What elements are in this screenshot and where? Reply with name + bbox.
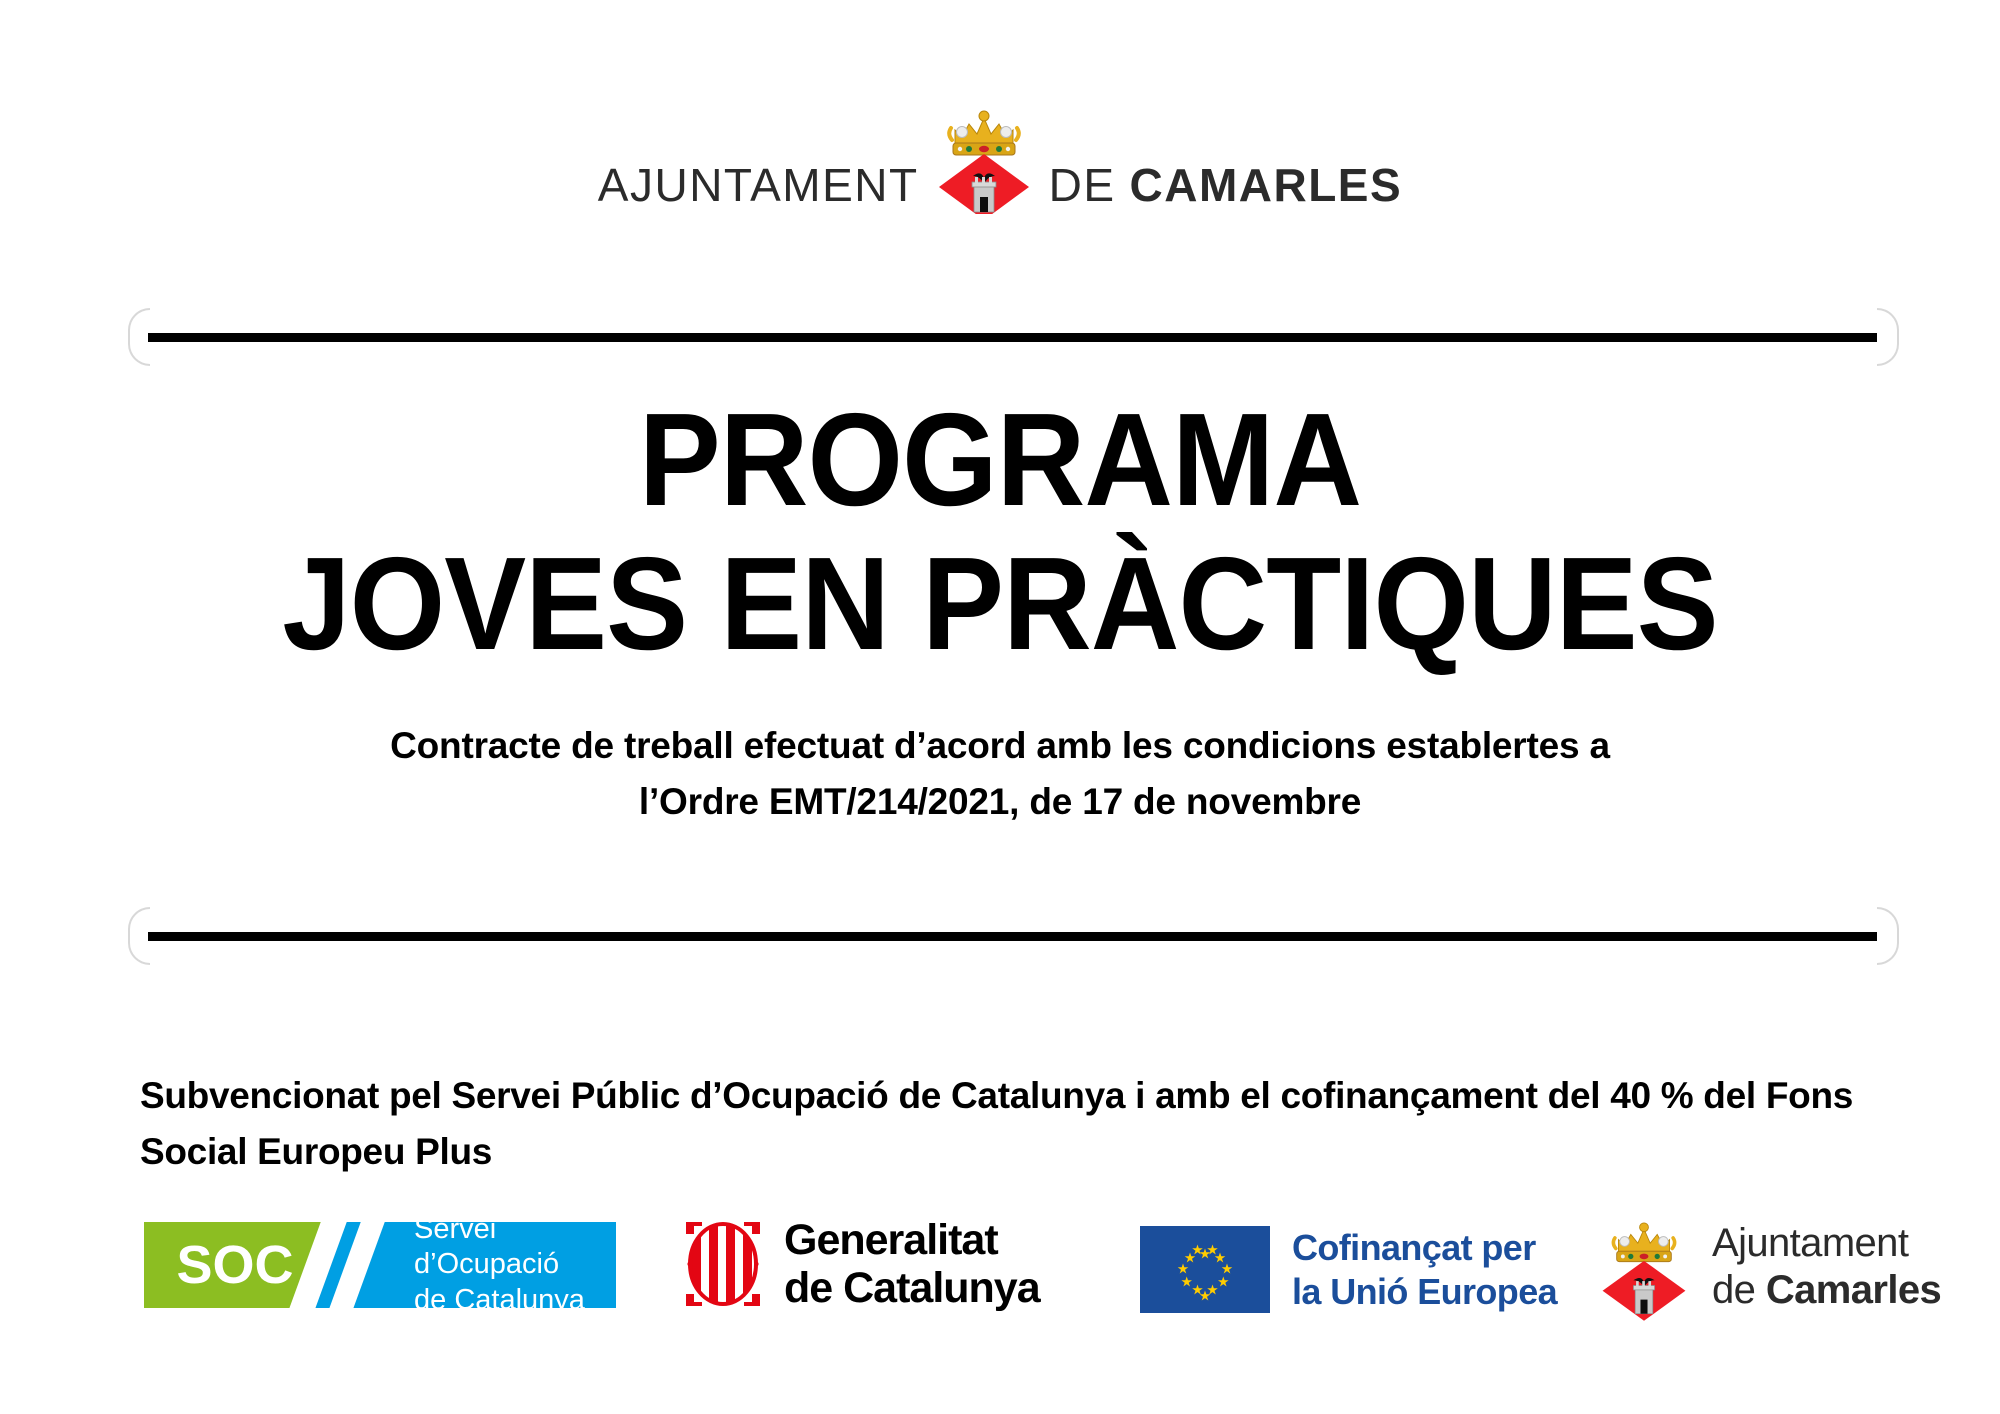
title-line-2: JOVES EN PRÀCTIQUES	[70, 534, 1930, 674]
senyera-emblem-icon	[680, 1216, 766, 1312]
rule-cap-bottom-left	[128, 907, 150, 965]
camarles-wordmark: Ajuntament de Camarles	[1712, 1220, 1941, 1314]
soc-line-2: de Catalunya	[414, 1284, 585, 1308]
camarles-line-2: de Camarles	[1712, 1267, 1941, 1314]
generalitat-wordmark: Generalitat de Catalunya	[784, 1216, 1040, 1312]
subtitle: Contracte de treball efectuat d’acord am…	[0, 718, 2000, 829]
generalitat-line-2: de Catalunya	[784, 1264, 1040, 1312]
camarles-line-2-prefix: de	[1712, 1268, 1766, 1312]
rule-cap-top-left	[128, 308, 150, 366]
funding-statement: Subvencionat pel Servei Públic d’Ocupaci…	[140, 1068, 1880, 1180]
page-title: PROGRAMA JOVES EN PRÀCTIQUES	[0, 390, 2000, 674]
soc-logo: SOC Servei d’Ocupació de Catalunya	[144, 1222, 616, 1308]
soc-line-1: Servei d’Ocupació	[414, 1222, 559, 1280]
divider-top	[148, 333, 1877, 342]
divider-bottom	[148, 932, 1877, 941]
subtitle-line-1: Contracte de treball efectuat d’acord am…	[0, 718, 2000, 774]
header-word-camarles: CAMARLES	[1130, 162, 1403, 214]
soc-acronym: SOC	[176, 1234, 293, 1296]
ajuntament-camarles-logo: Ajuntament de Camarles	[1592, 1208, 1941, 1326]
rule-cap-top-right	[1877, 308, 1899, 366]
soc-subtitle: Servei d’Ocupació de Catalunya	[414, 1222, 616, 1308]
eu-line-1: Cofinançat per	[1292, 1227, 1536, 1268]
eu-wordmark: Cofinançat per la Unió Europea	[1292, 1226, 1557, 1312]
camarles-line-1: Ajuntament	[1712, 1220, 1941, 1267]
header-word-de: DE	[1049, 162, 1116, 214]
subtitle-line-2: l’Ordre EMT/214/2021, de 17 de novembre	[0, 774, 2000, 830]
poster-page: AJUNTAMENT	[0, 0, 2000, 1414]
european-union-logo: Cofinançat per la Unió Europea	[1140, 1226, 1557, 1313]
soc-blue-block: Servei d’Ocupació de Catalunya	[340, 1222, 616, 1308]
rule-cap-bottom-right	[1877, 907, 1899, 965]
eu-line-2: la Unió Europea	[1292, 1271, 1557, 1312]
camarles-line-2-bold: Camarles	[1766, 1268, 1941, 1312]
camarles-coat-of-arms-small-icon	[1592, 1208, 1696, 1326]
generalitat-logo: Generalitat de Catalunya	[680, 1216, 1040, 1312]
title-line-1: PROGRAMA	[70, 390, 1930, 530]
header-word-ajuntament: AJUNTAMENT	[598, 162, 919, 214]
generalitat-line-1: Generalitat	[784, 1216, 998, 1264]
eu-flag-icon	[1140, 1226, 1270, 1313]
header-ajuntament-logo: AJUNTAMENT	[0, 104, 2000, 214]
funder-logo-strip: SOC Servei d’Ocupació de Catalunya	[0, 1208, 2000, 1338]
camarles-coat-of-arms-icon	[925, 104, 1043, 214]
